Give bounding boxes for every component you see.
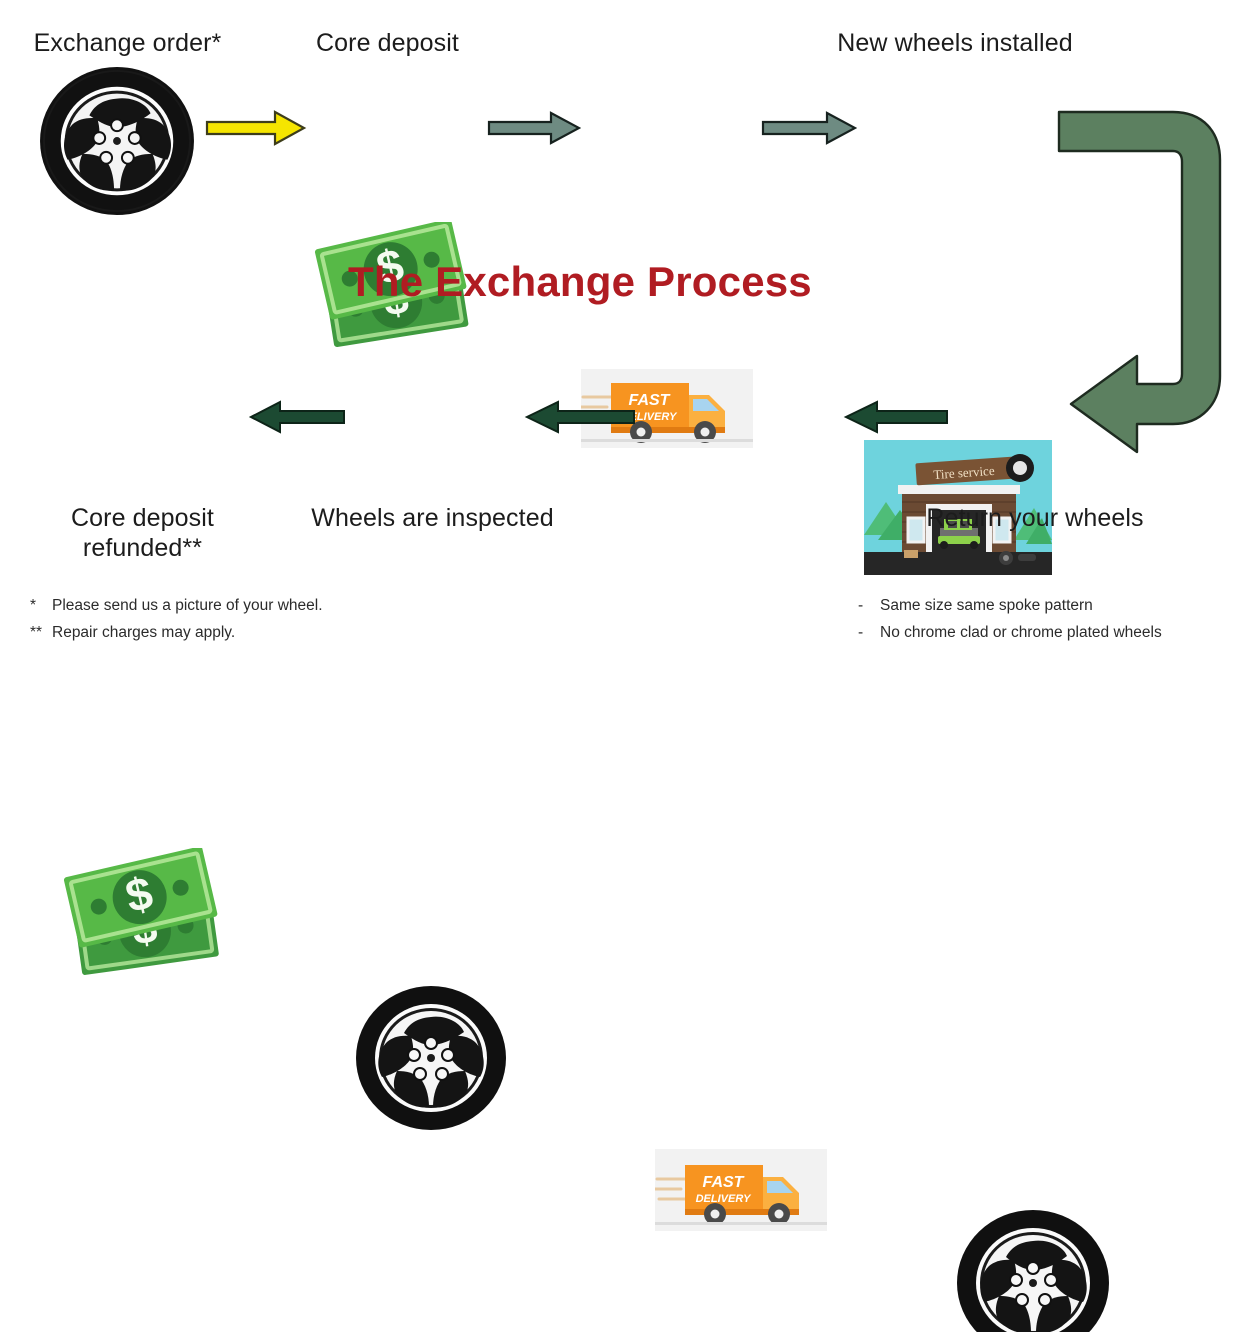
svg-text:DELIVERY: DELIVERY: [696, 1193, 752, 1205]
arrow-inspected-to-refund: [248, 400, 346, 434]
footnote-text: Same size same spoke pattern: [880, 597, 1093, 614]
footnote-right-1: -Same size same spoke pattern: [858, 592, 1162, 619]
footnote-marker: **: [30, 619, 52, 646]
wheel-icon-exchange-order: [38, 66, 196, 216]
step-label-return-wheels: Return your wheels: [890, 504, 1180, 534]
step-label-wheels-inspected: Wheels are inspected: [290, 504, 575, 534]
footnotes-right: -Same size same spoke pattern -No chrome…: [858, 592, 1162, 646]
footnote-left-1: *Please send us a picture of your wheel.: [30, 592, 323, 619]
arrow-deposit-to-shipping: [487, 110, 581, 146]
footnote-left-2: **Repair charges may apply.: [30, 619, 323, 646]
wheel-icon-inspected: [355, 986, 507, 1131]
step-label-exchange-order: Exchange order*: [0, 29, 255, 59]
footnote-marker: *: [30, 592, 52, 619]
delivery-truck-icon-return: FAST DELIVERY: [655, 1149, 827, 1231]
footnote-right-2: -No chrome clad or chrome plated wheels: [858, 619, 1162, 646]
money-icon-deposit-refunded: $ $: [58, 848, 233, 983]
footnote-marker: -: [858, 592, 880, 619]
arrow-installed-to-return: [1055, 108, 1230, 458]
arrow-return-to-shipping-back: [843, 400, 949, 434]
step-label-deposit-refunded: Core deposit refunded**: [30, 504, 255, 563]
footnote-text: Repair charges may apply.: [52, 624, 235, 641]
step-label-core-deposit: Core deposit: [285, 29, 490, 59]
exchange-process-diagram: Exchange order*: [0, 0, 1250, 666]
footnote-marker: -: [858, 619, 880, 646]
svg-text:FAST: FAST: [703, 1174, 745, 1191]
page-title: The Exchange Process: [348, 258, 812, 306]
footnote-text: Please send us a picture of your wheel.: [52, 597, 323, 614]
arrow-order-to-deposit: [205, 108, 307, 148]
footnotes-left: *Please send us a picture of your wheel.…: [30, 592, 323, 646]
footnote-text: No chrome clad or chrome plated wheels: [880, 624, 1162, 641]
step-label-new-wheels-installed: New wheels installed: [790, 29, 1120, 59]
arrow-shipping-to-installed: [761, 110, 857, 146]
arrow-shipping-back-to-inspected: [524, 400, 636, 434]
wheel-icon-return: [957, 1209, 1110, 1332]
